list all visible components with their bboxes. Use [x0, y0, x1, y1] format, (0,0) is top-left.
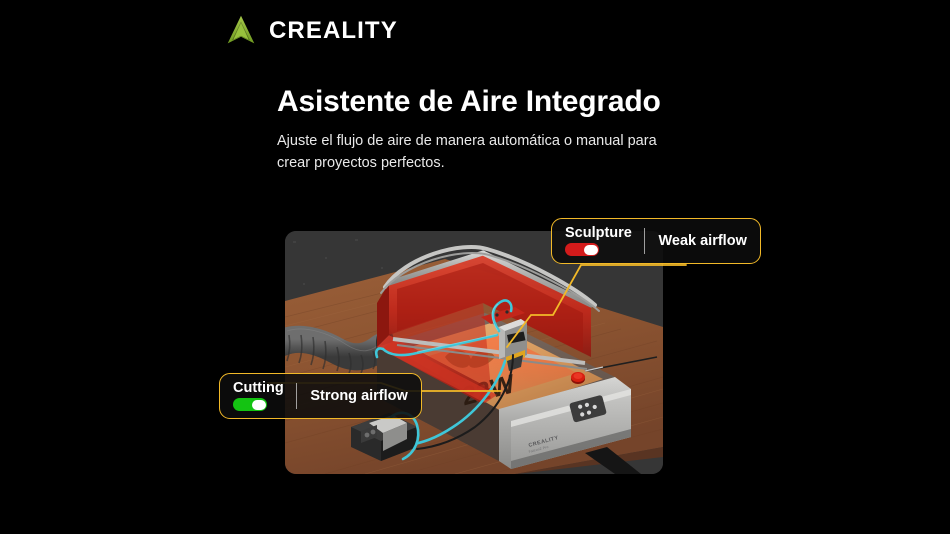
callout-mode-group-sculpture: Sculpture	[565, 226, 644, 257]
brand-logo-lockup: CREALITY	[222, 12, 398, 50]
airflow-toggle-sculpture[interactable]	[565, 243, 599, 256]
airflow-toggle-cutting[interactable]	[233, 398, 267, 411]
brand-wordmark: CREALITY	[269, 19, 398, 43]
marketing-slide: CREALITY Asistente de Aire Integrado Aju…	[0, 0, 950, 534]
badge-divider	[296, 383, 298, 409]
toggle-knob	[584, 245, 598, 255]
product-photo: 22W CREALITY Falcon2 Pro	[285, 231, 663, 474]
callout-mode-label-sculpture: Sculpture	[565, 226, 632, 241]
callout-badge-cutting[interactable]: Cutting Strong airflow	[219, 373, 422, 419]
badge-divider	[644, 228, 646, 254]
creality-arrow-logo-icon	[222, 12, 260, 50]
callout-mode-group-cutting: Cutting	[233, 381, 296, 412]
toggle-knob	[252, 400, 266, 410]
callout-airflow-label-sculpture: Weak airflow	[645, 233, 746, 249]
callout-badge-sculpture[interactable]: Sculpture Weak airflow	[551, 218, 761, 264]
page-title: Asistente de Aire Integrado	[277, 85, 661, 119]
page-subtitle: Ajuste el flujo de aire de manera automá…	[277, 130, 667, 175]
callout-airflow-label-cutting: Strong airflow	[297, 388, 407, 404]
callout-mode-label-cutting: Cutting	[233, 381, 284, 396]
